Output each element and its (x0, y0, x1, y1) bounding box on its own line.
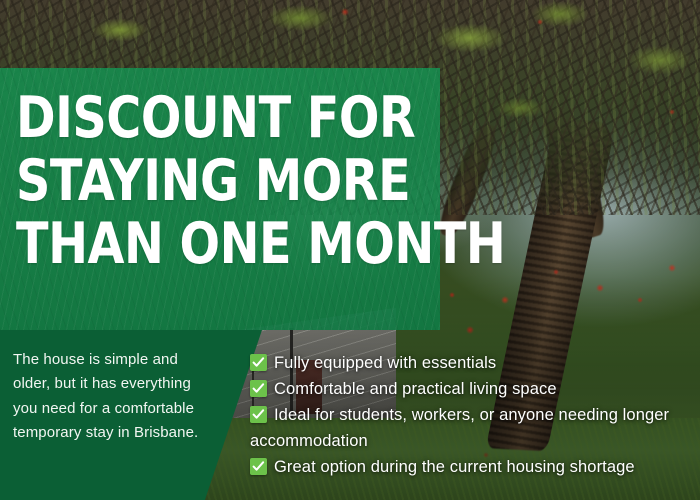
headline-line-1: DISCOUNT FOR (16, 90, 394, 147)
check-icon (250, 458, 267, 475)
promo-poster: DISCOUNT FOR STAYING MORE THAN ONE MONTH… (0, 0, 700, 500)
blurb-text: The house is simple and older, but it ha… (13, 348, 209, 445)
feature-label: Great option during the current housing … (274, 458, 635, 476)
headline: DISCOUNT FOR STAYING MORE THAN ONE MONTH (16, 90, 394, 273)
feature-label: Fully equipped with essentials (274, 354, 496, 372)
headline-line-2: STAYING MORE (16, 153, 394, 210)
headline-panel: DISCOUNT FOR STAYING MORE THAN ONE MONTH (0, 68, 440, 330)
list-item: Fully equipped with essentials (250, 350, 700, 376)
headline-line-3: THAN ONE MONTH (16, 216, 394, 273)
feature-label: Comfortable and practical living space (274, 380, 557, 398)
feature-label: Ideal for students, workers, or anyone n… (250, 406, 669, 450)
check-icon (250, 380, 267, 397)
list-item: Ideal for students, workers, or anyone n… (250, 402, 700, 454)
list-item: Comfortable and practical living space (250, 376, 700, 402)
check-icon (250, 354, 267, 371)
feature-list: Fully equipped with essentials Comfortab… (250, 350, 700, 480)
list-item: Great option during the current housing … (250, 454, 700, 480)
check-icon (250, 406, 267, 423)
